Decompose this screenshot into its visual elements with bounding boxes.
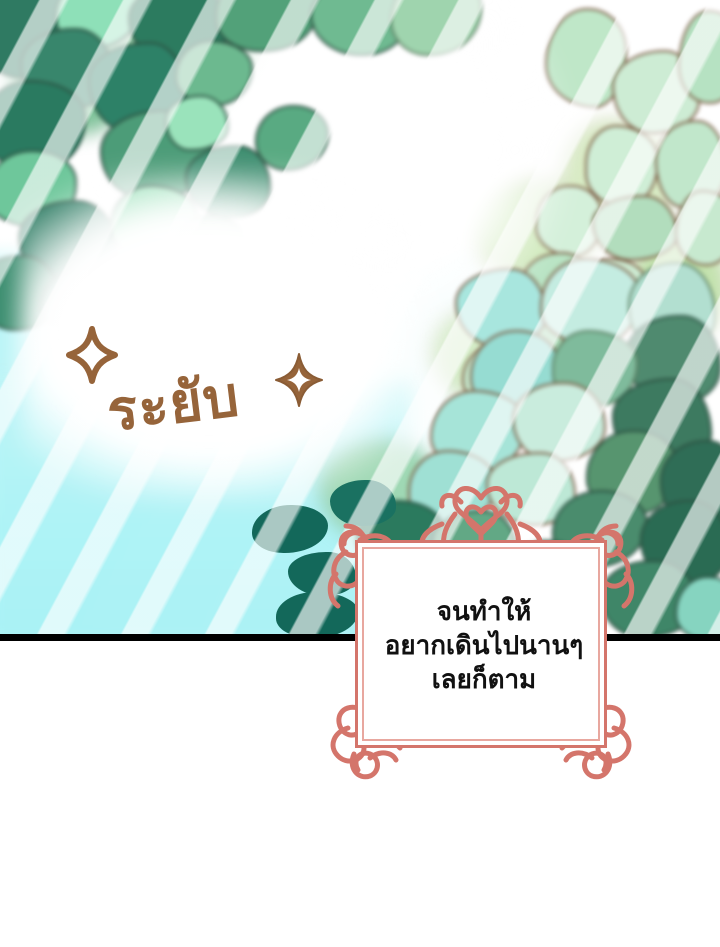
comic-page: ระยับ: [0, 0, 720, 947]
sparkle-sfx: ระยับ: [55, 325, 355, 455]
bubble-text-content: จนทำให้ อยากเดินไปนานๆ เลยก็ตาม: [358, 543, 610, 751]
bubble-line-1: จนทำให้: [437, 597, 532, 629]
sparkle-right-icon: [273, 351, 325, 409]
bubble-text-box: จนทำให้ อยากเดินไปนานๆ เลยก็ตาม: [355, 540, 607, 748]
sfx-text: ระยับ: [102, 351, 244, 455]
ornate-dialogue-bubble[interactable]: จนทำให้ อยากเดินไปนานๆ เลยก็ตาม: [322, 478, 640, 808]
bubble-line-2: อยากเดินไปนานๆ: [385, 631, 583, 663]
bubble-line-3: เลยก็ตาม: [432, 665, 536, 697]
